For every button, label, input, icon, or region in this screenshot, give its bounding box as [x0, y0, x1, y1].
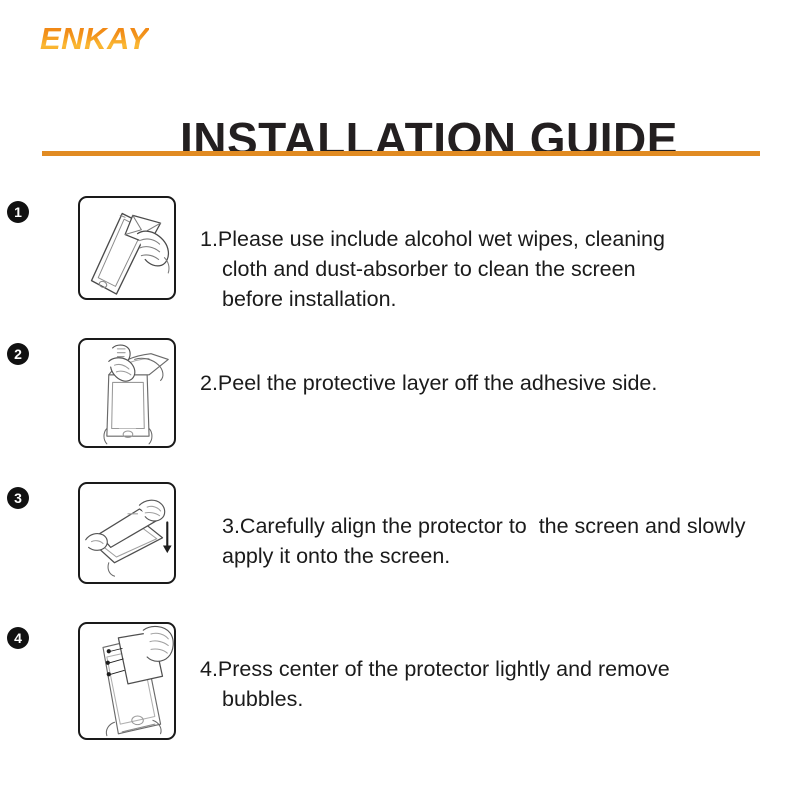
step-3-illustration	[78, 482, 176, 584]
step-3-badge: 3	[7, 487, 29, 509]
brand-logo: ENKAY	[40, 23, 149, 54]
step-1-illustration	[78, 196, 176, 300]
step-2-badge: 2	[7, 343, 29, 365]
step-2-text: 2.Peel the protective layer off the adhe…	[200, 368, 782, 398]
step-1-text: 1.Please use include alcohol wet wipes, …	[200, 224, 702, 314]
step-2-illustration	[78, 338, 176, 448]
peel-protective-layer-icon	[80, 340, 174, 446]
title-divider	[42, 151, 760, 156]
step-4-badge: 4	[7, 627, 29, 649]
press-center-bubbles-icon	[80, 624, 174, 738]
step-4-text: 4.Press center of the protector lightly …	[200, 654, 752, 714]
step-4-illustration	[78, 622, 176, 740]
phone-wipe-cloth-icon	[80, 198, 174, 298]
align-protector-arrow-icon	[80, 484, 174, 582]
step-3-text: 3.Carefully align the protector to the s…	[200, 511, 777, 571]
step-1-badge: 1	[7, 201, 29, 223]
